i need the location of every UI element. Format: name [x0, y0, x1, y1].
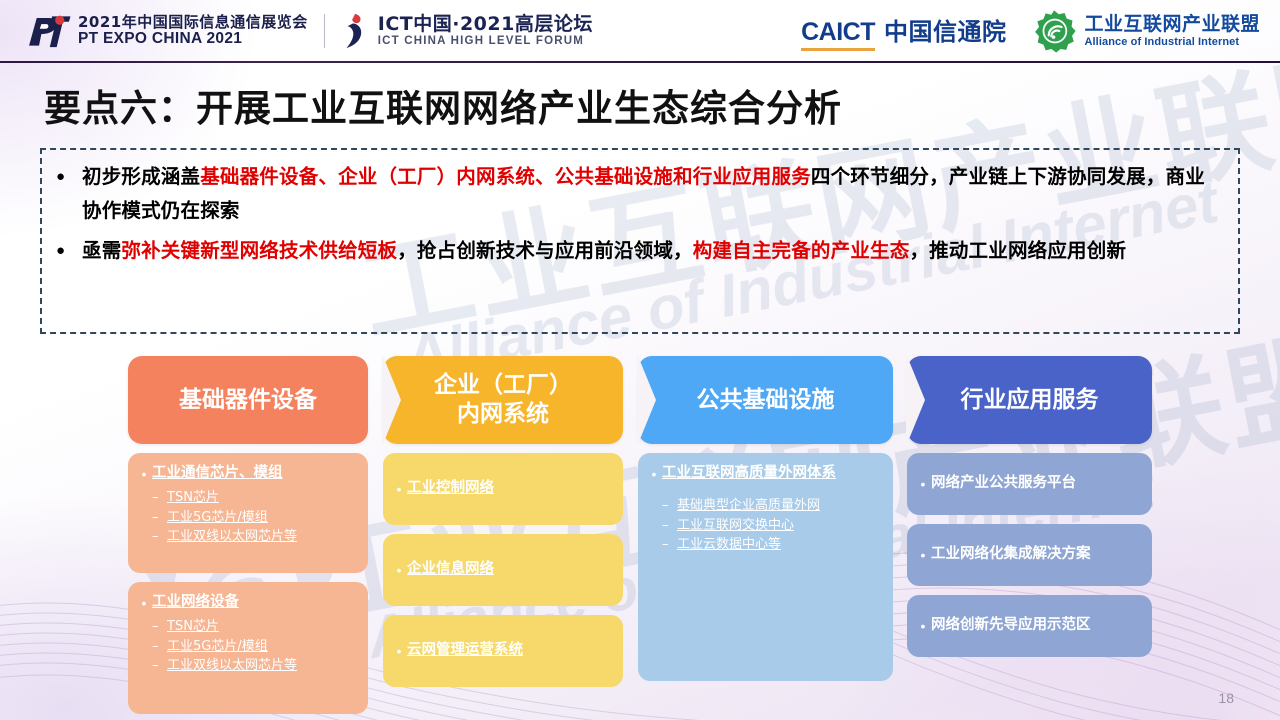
- cell-bullet: •: [915, 473, 931, 496]
- pt-logo-text: 2021年中国国际信息通信展览会 PT EXPO CHINA 2021: [78, 15, 308, 47]
- cell-body: 企业信息网络: [407, 559, 613, 580]
- page-number: 18: [1218, 690, 1234, 706]
- sub-dash: –: [152, 656, 167, 676]
- sub-text: TSN芯片: [167, 617, 219, 637]
- cell-bullet: •: [915, 544, 931, 567]
- aii-logo-cn: 工业互联网产业联盟: [1084, 14, 1260, 36]
- logo-aii: 工业互联网产业联盟 Alliance of Industrial Interne…: [1032, 9, 1260, 53]
- sub-item: –工业双线以太网芯片等: [152, 527, 358, 547]
- header-right-logos: CAICT 中国信通院 工业互联网产业联盟 Alliance of Indust…: [801, 9, 1260, 53]
- sub-dash: –: [152, 508, 167, 528]
- cell-bullet: •: [646, 463, 662, 486]
- cell-bullet: •: [391, 559, 407, 582]
- cell-subitems: –TSN芯片 –工业5G芯片/模组 –工业双线以太网芯片等: [152, 488, 358, 547]
- flow-header-2-line2: 内网系统: [434, 400, 572, 429]
- bullet-text: 初步形成涵盖基础器件设备、企业（工厂）内网系统、公共基础设施和行业应用服务四个环…: [82, 160, 1224, 228]
- logo-pt-expo: 2021年中国国际信息通信展览会 PT EXPO CHINA 2021: [26, 13, 308, 49]
- flow-header-4[interactable]: 行业应用服务: [907, 356, 1152, 444]
- cell-subitems: –TSN芯片 –工业5G芯片/模组 –工业双线以太网芯片等: [152, 617, 358, 676]
- cell-title: 云网管理运营系统: [407, 640, 523, 661]
- flow-column-1: 基础器件设备 • 工业通信芯片、模组 –TSN芯片 –工业5G芯片/模组 –工业…: [128, 356, 368, 714]
- cell-bullet: •: [136, 463, 152, 486]
- logo-caict: CAICT 中国信通院: [801, 12, 1006, 51]
- cell-bullet: •: [391, 640, 407, 663]
- flow-column-2: 企业（工厂） 内网系统 • 工业控制网络 • 企业信息网络: [383, 356, 623, 714]
- cell-title: 企业信息网络: [407, 559, 494, 580]
- sub-dash: –: [662, 496, 677, 516]
- sub-dash: –: [152, 637, 167, 657]
- flow-header-3-text: 公共基础设施: [697, 386, 835, 415]
- flow-cell[interactable]: • 云网管理运营系统: [383, 615, 623, 687]
- pt-logo-en: PT EXPO CHINA 2021: [78, 31, 308, 47]
- cell-title: 网络产业公共服务平台: [931, 473, 1076, 494]
- flow-cell[interactable]: • 企业信息网络: [383, 534, 623, 606]
- emphasis-text: 弥补关键新型网络技术供给短板: [121, 239, 397, 262]
- cell-body: 云网管理运营系统: [407, 640, 613, 661]
- bullet-item: ● 初步形成涵盖基础器件设备、企业（工厂）内网系统、公共基础设施和行业应用服务四…: [56, 160, 1224, 228]
- flow-header-4-text: 行业应用服务: [961, 386, 1099, 415]
- flow-column-3: 公共基础设施 • 工业互联网高质量外网体系 –基础典型企业高质量外网 –工业互联…: [638, 356, 893, 714]
- flow-column-4: 行业应用服务 • 网络产业公共服务平台 • 工业网络化集成解决方案 •: [907, 356, 1152, 714]
- cell-bullet: •: [136, 592, 152, 615]
- sub-item: –TSN芯片: [152, 617, 358, 637]
- logo-ict-forum: ICT中国·2021高层论坛 ICT CHINA HIGH LEVEL FORU…: [341, 12, 593, 50]
- cell-title: 网络创新先导应用示范区: [931, 615, 1091, 636]
- arrow-notch-icon: [382, 356, 401, 444]
- cell-bullet: •: [915, 615, 931, 638]
- bullets-panel: ● 初步形成涵盖基础器件设备、企业（工厂）内网系统、公共基础设施和行业应用服务四…: [40, 148, 1240, 334]
- cell-body: 网络产业公共服务平台: [931, 473, 1142, 494]
- sub-dash: –: [662, 516, 677, 536]
- slide-header: 2021年中国国际信息通信展览会 PT EXPO CHINA 2021 ICT中…: [0, 0, 1280, 62]
- value-chain-diagram: 基础器件设备 • 工业通信芯片、模组 –TSN芯片 –工业5G芯片/模组 –工业…: [128, 356, 1152, 714]
- sub-text: 工业双线以太网芯片等: [167, 527, 297, 547]
- cell-title: 工业网络化集成解决方案: [931, 544, 1091, 565]
- bullet-text: 亟需弥补关键新型网络技术供给短板，抢占创新技术与应用前沿领域，构建自主完备的产业…: [82, 234, 1126, 268]
- sub-dash: –: [152, 617, 167, 637]
- plain-text: 初步形成涵盖: [82, 165, 200, 188]
- cell-bullet: •: [391, 478, 407, 501]
- bullet-marker: ●: [56, 160, 82, 228]
- flow-cell[interactable]: • 网络产业公共服务平台: [907, 453, 1152, 515]
- cell-title: 工业网络设备: [152, 592, 358, 613]
- flow-header-3[interactable]: 公共基础设施: [638, 356, 893, 444]
- plain-text: ，推动工业网络应用创新: [909, 239, 1126, 262]
- arrow-notch-icon: [637, 356, 656, 444]
- plain-text: 亟需: [82, 239, 121, 262]
- cell-title: 工业互联网高质量外网体系: [662, 463, 883, 484]
- pt-logo-cn: 2021年中国国际信息通信展览会: [78, 15, 308, 31]
- sub-item: –工业5G芯片/模组: [152, 508, 358, 528]
- caict-cn: 中国信通院: [884, 12, 1007, 47]
- flow-cell[interactable]: • 工业网络设备 –TSN芯片 –工业5G芯片/模组 –工业双线以太网芯片等: [128, 582, 368, 714]
- flow-cell[interactable]: • 工业网络化集成解决方案: [907, 524, 1152, 586]
- sub-text: 工业5G芯片/模组: [167, 637, 268, 657]
- ict-logo-icon: [341, 12, 371, 50]
- aii-gear-icon: [1032, 9, 1076, 53]
- cell-body: 工业互联网高质量外网体系 –基础典型企业高质量外网 –工业互联网交换中心 –工业…: [662, 463, 883, 555]
- arrow-notch-icon: [906, 356, 925, 444]
- caict-wordmark: CAICT: [801, 18, 875, 51]
- bullet-marker: ●: [56, 234, 82, 268]
- sub-item: –工业5G芯片/模组: [152, 637, 358, 657]
- sub-item: –TSN芯片: [152, 488, 358, 508]
- plain-text: ，抢占创新技术与应用前沿领域，: [397, 239, 693, 262]
- page-title: 要点六：开展工业互联网网络产业生态综合分析: [44, 78, 842, 132]
- aii-logo-en: Alliance of Industrial Internet: [1084, 36, 1260, 49]
- flow-cell[interactable]: • 工业通信芯片、模组 –TSN芯片 –工业5G芯片/模组 –工业双线以太网芯片…: [128, 453, 368, 573]
- cell-title: 工业通信芯片、模组: [152, 463, 358, 484]
- sub-text: 工业互联网交换中心: [677, 516, 794, 536]
- flow-header-2-line1: 企业（工厂）: [434, 371, 572, 400]
- cell-body: 工业控制网络: [407, 478, 613, 499]
- bullet-item: ● 亟需弥补关键新型网络技术供给短板，抢占创新技术与应用前沿领域，构建自主完备的…: [56, 234, 1224, 268]
- sub-item: –基础典型企业高质量外网: [662, 496, 883, 516]
- flow-header-1[interactable]: 基础器件设备: [128, 356, 368, 444]
- header-rule: [0, 61, 1280, 63]
- flow-cell[interactable]: • 网络创新先导应用示范区: [907, 595, 1152, 657]
- sub-dash: –: [152, 488, 167, 508]
- sub-text: 基础典型企业高质量外网: [677, 496, 820, 516]
- sub-dash: –: [152, 527, 167, 547]
- ict-logo-en: ICT CHINA HIGH LEVEL FORUM: [378, 35, 593, 48]
- cell-body: 网络创新先导应用示范区: [931, 615, 1142, 636]
- ict-logo-text: ICT中国·2021高层论坛 ICT CHINA HIGH LEVEL FORU…: [378, 14, 593, 48]
- flow-columns: 基础器件设备 • 工业通信芯片、模组 –TSN芯片 –工业5G芯片/模组 –工业…: [128, 356, 1152, 714]
- cell-subitems: –基础典型企业高质量外网 –工业互联网交换中心 –工业云数据中心等: [662, 496, 883, 555]
- sub-text: 工业5G芯片/模组: [167, 508, 268, 528]
- sub-text: TSN芯片: [167, 488, 219, 508]
- ict-logo-cn: ICT中国·2021高层论坛: [378, 14, 593, 35]
- cell-body: 工业网络设备 –TSN芯片 –工业5G芯片/模组 –工业双线以太网芯片等: [152, 592, 358, 676]
- sub-dash: –: [662, 535, 677, 555]
- flow-cell[interactable]: • 工业控制网络: [383, 453, 623, 525]
- flow-header-2-text: 企业（工厂） 内网系统: [434, 371, 572, 429]
- sub-item: –工业云数据中心等: [662, 535, 883, 555]
- emphasis-text: 基础器件设备、企业（工厂）内网系统、公共基础设施和行业应用服务: [200, 165, 811, 188]
- sub-item: –工业互联网交换中心: [662, 516, 883, 536]
- cell-title: 工业控制网络: [407, 478, 494, 499]
- pt-logo-icon: [26, 13, 72, 49]
- slide-root: 工业互联网产业联盟 Alliance of Industrial Interne…: [0, 0, 1280, 720]
- cell-body: 工业通信芯片、模组 –TSN芯片 –工业5G芯片/模组 –工业双线以太网芯片等: [152, 463, 358, 547]
- flow-cell[interactable]: • 工业互联网高质量外网体系 –基础典型企业高质量外网 –工业互联网交换中心 –…: [638, 453, 893, 681]
- flow-header-2[interactable]: 企业（工厂） 内网系统: [383, 356, 623, 444]
- sub-text: 工业双线以太网芯片等: [167, 656, 297, 676]
- cell-body: 工业网络化集成解决方案: [931, 544, 1142, 565]
- aii-logo-text: 工业互联网产业联盟 Alliance of Industrial Interne…: [1084, 14, 1260, 48]
- emphasis-text: 构建自主完备的产业生态: [693, 239, 910, 262]
- header-divider: [324, 14, 325, 48]
- sub-item: –工业双线以太网芯片等: [152, 656, 358, 676]
- sub-text: 工业云数据中心等: [677, 535, 781, 555]
